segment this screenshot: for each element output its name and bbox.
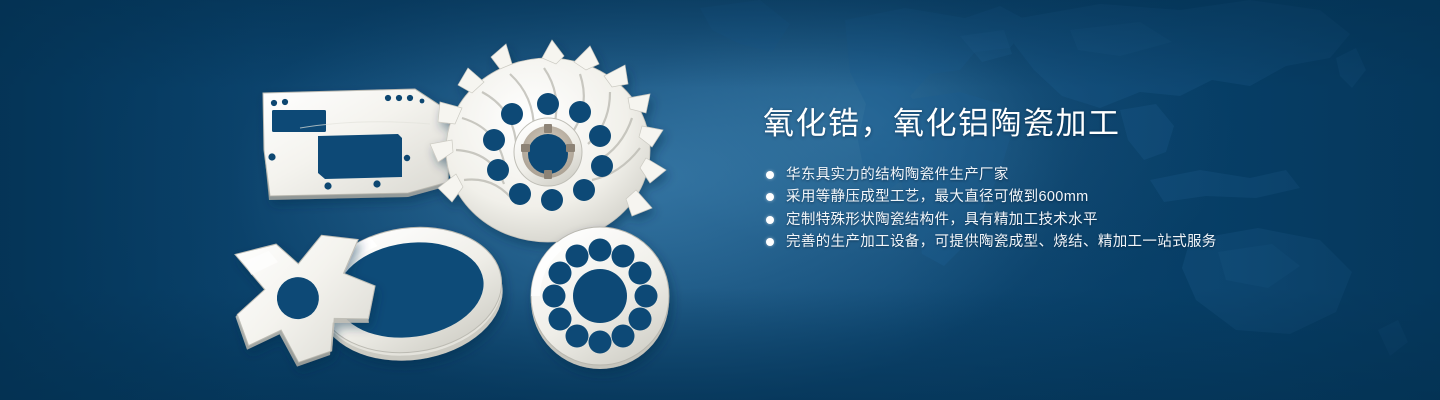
list-item-label: 定制特殊形状陶瓷结构件，具有精加工技术水平 [786, 212, 1098, 228]
list-item-label: 完善的生产加工设备，可提供陶瓷成型、烧结、精加工一站式服务 [786, 234, 1217, 250]
list-item: 定制特殊形状陶瓷结构件，具有精加工技术水平 [763, 209, 1383, 231]
bullet-dot-icon [766, 238, 774, 246]
banner-copy: 氧化锆，氧化铝陶瓷加工 华东具实力的结构陶瓷件生产厂家 采用等静压成型工艺，最大… [763, 104, 1383, 253]
page-title: 氧化锆，氧化铝陶瓷加工 [763, 104, 1383, 144]
list-item: 完善的生产加工设备，可提供陶瓷成型、烧结、精加工一站式服务 [763, 231, 1383, 253]
promo-banner: 氧化锆，氧化铝陶瓷加工 华东具实力的结构陶瓷件生产厂家 采用等静压成型工艺，最大… [0, 0, 1440, 400]
list-item: 华东具实力的结构陶瓷件生产厂家 [763, 164, 1383, 186]
list-item-label: 华东具实力的结构陶瓷件生产厂家 [786, 167, 1009, 183]
bullet-dot-icon [766, 171, 774, 179]
bullet-dot-icon [766, 216, 774, 224]
list-item: 采用等静压成型工艺，最大直径可做到600mm [763, 186, 1383, 208]
bullet-dot-icon [766, 193, 774, 201]
feature-list: 华东具实力的结构陶瓷件生产厂家 采用等静压成型工艺，最大直径可做到600mm 定… [763, 164, 1383, 253]
list-item-label: 采用等静压成型工艺，最大直径可做到600mm [786, 189, 1089, 205]
